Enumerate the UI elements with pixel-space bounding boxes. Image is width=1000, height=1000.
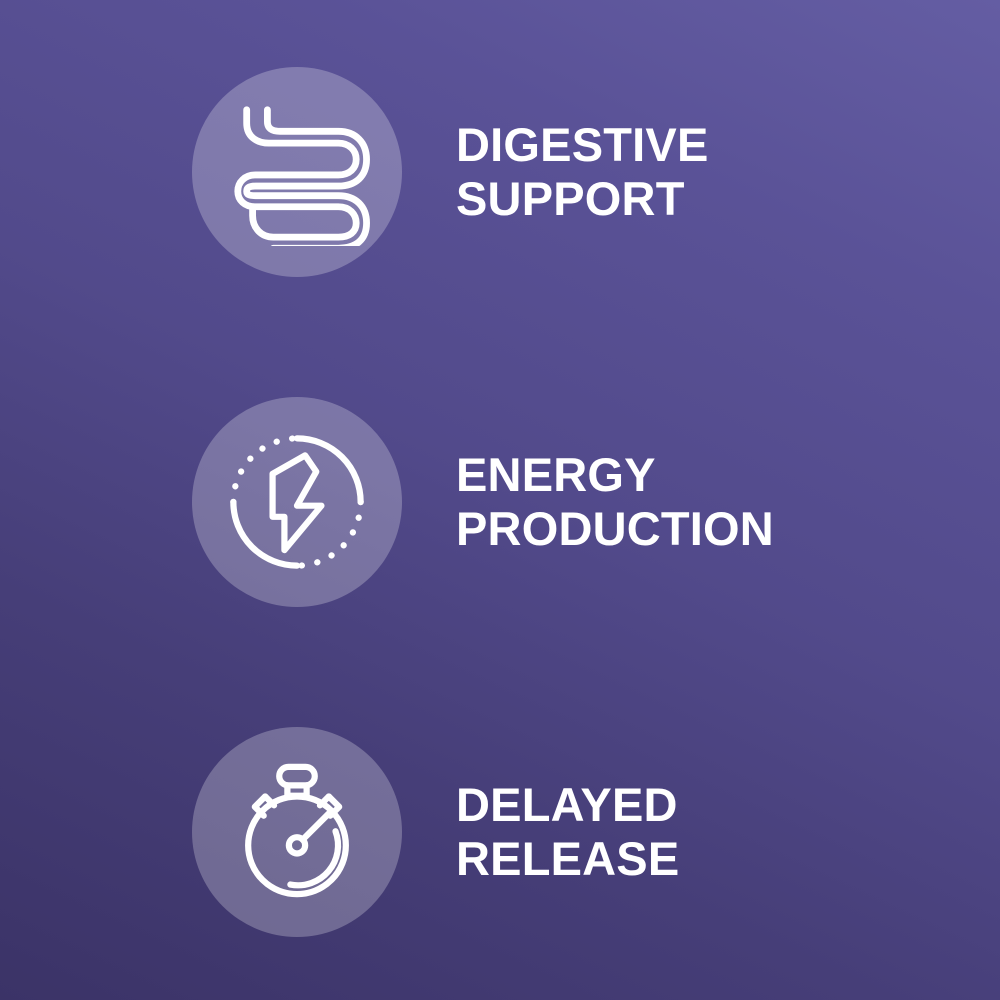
icon-badge-delayed-release [192,727,402,937]
benefits-panel: DIGESTIVE SUPPORT ENERGY PRODUCTIO [0,0,1000,1000]
lightning-bolt-icon [223,428,371,576]
benefit-label-energy-production: ENERGY PRODUCTION [456,448,774,556]
benefit-label-digestive-support: DIGESTIVE SUPPORT [456,118,709,226]
intestine-icon [223,98,371,246]
benefit-item-energy-production: ENERGY PRODUCTION [0,397,1000,607]
icon-badge-energy-production [192,397,402,607]
benefit-item-digestive-support: DIGESTIVE SUPPORT [0,67,1000,277]
benefit-label-delayed-release: DELAYED RELEASE [456,778,679,886]
benefit-item-delayed-release: DELAYED RELEASE [0,727,1000,937]
icon-badge-digestive-support [192,67,402,277]
stopwatch-icon [223,758,371,906]
